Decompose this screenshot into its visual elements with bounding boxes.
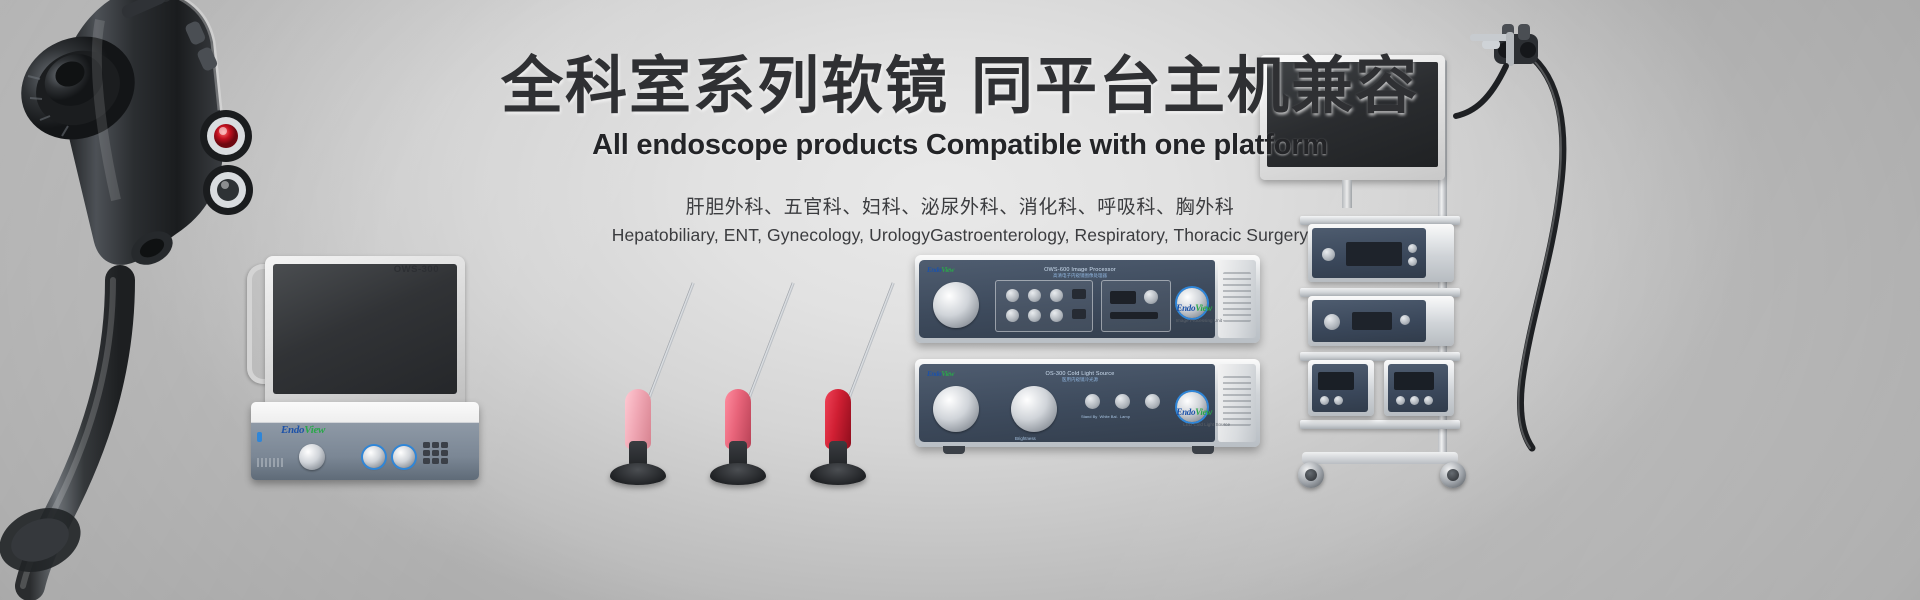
processor-display-2: [1072, 309, 1086, 319]
instrument-stand: [710, 463, 766, 485]
processor-knob-small[interactable]: [1144, 290, 1158, 304]
light-source-scope-port[interactable]: [933, 386, 979, 432]
brand-text-blue: Endo: [1176, 303, 1195, 313]
page-subtitle-en: All endoscope products Compatible with o…: [0, 129, 1920, 162]
product-banner: 全科室系列软镜同平台主机兼容 All endoscope products Co…: [0, 0, 1920, 600]
title-cn-part2: 同平台主机兼容: [971, 52, 1419, 121]
brightness-knob-label: Brightness: [1015, 436, 1036, 441]
brand-logo: EndoView: [927, 370, 954, 378]
light-source-caption: LED Cold Light Source: [1183, 422, 1230, 427]
processor-button-5[interactable]: [1028, 309, 1041, 322]
unit-foot-right: [1192, 446, 1214, 454]
instrument-grip: [725, 389, 751, 449]
monitor-keypad[interactable]: [423, 442, 448, 464]
light-source-side-vent: [1218, 364, 1256, 442]
light-panel-title-cn: 医用内窥镜冷光源: [1005, 377, 1155, 383]
brand-logo: EndoView: [1176, 303, 1212, 313]
cart-insufflator-display: [1318, 372, 1354, 390]
light-source-button-labels: Stand By White Bal. Lamp: [1081, 414, 1130, 419]
monitor-port-connector-3[interactable]: [393, 446, 415, 468]
processor-front-panel: OWS-600 Image Processor 高清电子内窥镜图像处理器 End…: [919, 260, 1215, 338]
banner-text-block: 全科室系列软镜同平台主机兼容 All endoscope products Co…: [0, 52, 1920, 246]
instrument-stand: [810, 463, 866, 485]
processor-button-3[interactable]: [1050, 289, 1063, 302]
cart-insufflator-button-1[interactable]: [1320, 396, 1329, 405]
light-source-unit: OS-300 Cold Light Source 医用内窥镜冷光源 EndoVi…: [915, 359, 1260, 447]
processor-usb-port[interactable]: [1110, 291, 1136, 304]
cart-insufflator-button-2[interactable]: [1334, 396, 1343, 405]
specialties-cn: 肝胆外科、五官科、妇科、泌尿外科、消化科、呼吸科、胸外科: [0, 192, 1920, 219]
processor-button-2[interactable]: [1028, 289, 1041, 302]
cart-light-knob[interactable]: [1324, 314, 1340, 330]
processor-button-4[interactable]: [1006, 309, 1019, 322]
cart-wheel-left: [1298, 462, 1324, 488]
cart-recorder-button-1[interactable]: [1396, 396, 1405, 405]
instrument-stand: [610, 463, 666, 485]
light-source-front-panel: OS-300 Cold Light Source 医用内窥镜冷光源 EndoVi…: [919, 364, 1215, 442]
processor-button-panel[interactable]: [995, 280, 1093, 332]
brand-text-green: View: [941, 266, 954, 274]
specialties-en: Hepatobiliary, ENT, Gynecology, UrologyG…: [0, 225, 1920, 246]
console-stack: OWS-600 Image Processor 高清电子内窥镜图像处理器 End…: [915, 255, 1275, 485]
cart-module-insufflator: [1308, 360, 1374, 416]
lamp-button[interactable]: [1145, 394, 1160, 409]
title-cn-part1: 全科室系列软镜: [501, 52, 949, 121]
cart-light-button[interactable]: [1400, 315, 1410, 325]
monitor-port-connector-2[interactable]: [363, 446, 385, 468]
brand-logo: EndoView: [1176, 407, 1212, 417]
page-title: 全科室系列软镜同平台主机兼容: [0, 52, 1920, 123]
brand-text-green: View: [941, 370, 954, 378]
monitor-model-label: OWS-300: [394, 264, 439, 275]
brand-text-green: View: [1195, 303, 1212, 313]
instrument-grip: [625, 389, 651, 449]
processor-button-1[interactable]: [1006, 289, 1019, 302]
cart-processor-knob[interactable]: [1322, 248, 1335, 261]
image-processor-unit: OWS-600 Image Processor 高清电子内窥镜图像处理器 End…: [915, 255, 1260, 343]
standby-button[interactable]: [1085, 394, 1100, 409]
instrument-grip: [825, 389, 851, 449]
brightness-knob[interactable]: [1011, 386, 1057, 432]
brand-text-blue: Endo: [1176, 407, 1195, 417]
processor-slot: [1110, 312, 1158, 319]
brand-text-blue: Endo: [927, 370, 941, 378]
processor-port-panel[interactable]: [1101, 280, 1171, 332]
processor-button-6[interactable]: [1050, 309, 1063, 322]
processor-side-vent: [1218, 260, 1256, 338]
white-balance-button[interactable]: [1115, 394, 1130, 409]
brand-text-blue: Endo: [927, 266, 941, 274]
laparoscopic-instrument-red: [768, 255, 908, 485]
brand-text-green: View: [1195, 407, 1212, 417]
processor-display-1: [1072, 289, 1086, 299]
cart-light-display: [1352, 312, 1392, 330]
brand-logo: EndoView: [927, 266, 954, 274]
processor-main-connector[interactable]: [933, 282, 979, 328]
unit-foot-left: [943, 446, 965, 454]
processor-panel-title-cn: 高清电子内窥镜图像处理器: [1005, 273, 1155, 279]
processor-caption: Image Processing Unit: [1176, 318, 1222, 323]
